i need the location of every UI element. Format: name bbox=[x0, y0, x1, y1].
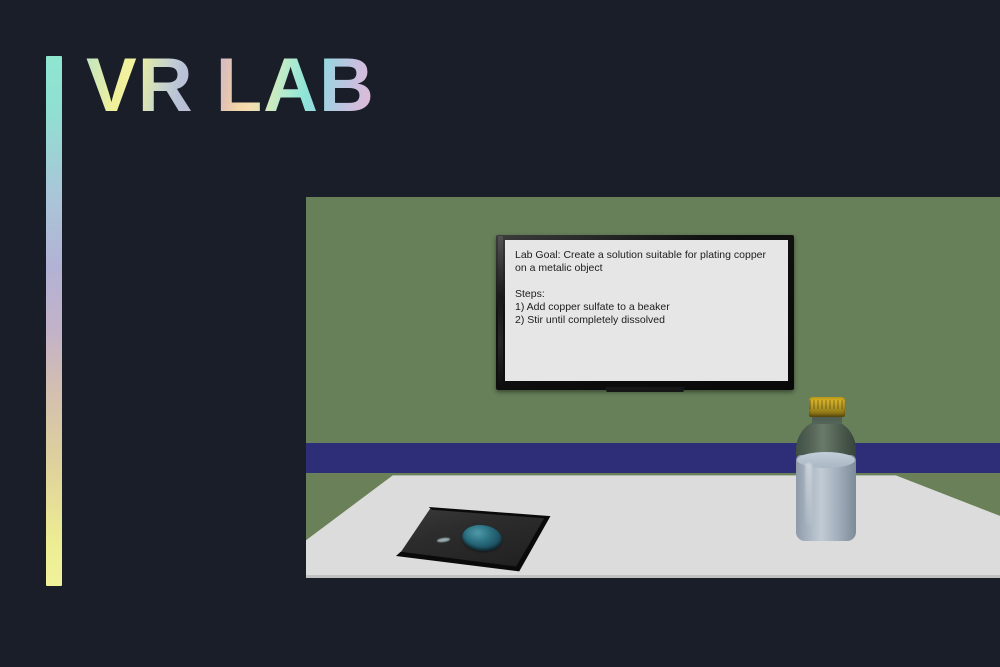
board-screen: Lab Goal: Create a solution suitable for… bbox=[505, 240, 788, 381]
board-step-1: 1) Add copper sulfate to a beaker bbox=[515, 301, 778, 314]
board-goal-line-1: Lab Goal: Create a solution suitable for… bbox=[515, 249, 778, 262]
instruction-board[interactable]: Lab Goal: Create a solution suitable for… bbox=[496, 235, 794, 390]
board-step-2: 2) Stir until completely dissolved bbox=[515, 314, 778, 327]
vr-scene-viewport[interactable]: Lab Goal: Create a solution suitable for… bbox=[306, 197, 1000, 578]
page-title: VR LAB bbox=[86, 48, 375, 124]
gradient-accent-bar bbox=[46, 56, 62, 586]
board-steps-heading: Steps: bbox=[515, 288, 778, 301]
bottle-cap[interactable] bbox=[809, 397, 845, 417]
stir-plate[interactable] bbox=[396, 507, 552, 577]
scene-backsplash bbox=[306, 443, 1000, 473]
reagent-bottle[interactable] bbox=[793, 397, 859, 542]
board-goal-line-2: on a metalic object bbox=[515, 262, 778, 275]
board-stand bbox=[606, 387, 684, 392]
vr-lab-app: VR LAB Lab Goal: Create a solution suita… bbox=[0, 0, 1000, 667]
board-spacer bbox=[515, 275, 778, 288]
bottle-highlight bbox=[805, 463, 812, 525]
